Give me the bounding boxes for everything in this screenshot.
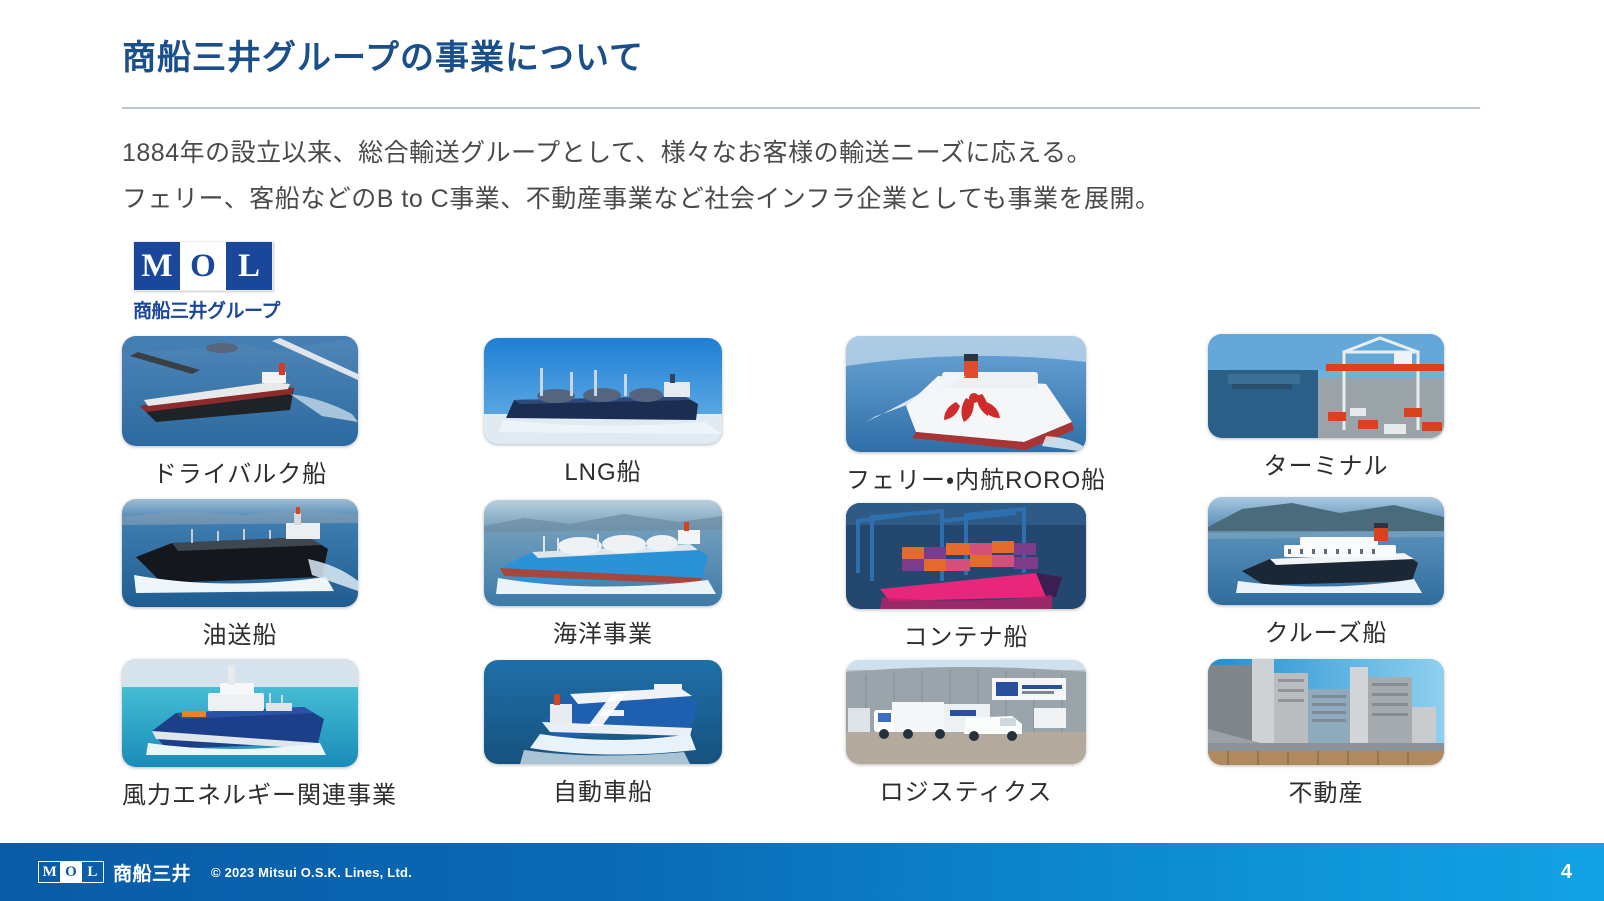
business-label: 油送船 bbox=[122, 615, 358, 650]
real-estate-buildings-photo bbox=[1208, 659, 1444, 765]
business-grid: ドライバルク船 bbox=[0, 0, 1604, 901]
ferry-roro-photo bbox=[846, 336, 1086, 452]
dry-bulk-carrier-photo bbox=[122, 336, 358, 446]
business-card[interactable]: ターミナル bbox=[1208, 334, 1444, 481]
business-label: 不動産 bbox=[1208, 773, 1444, 808]
container-terminal-photo bbox=[1208, 334, 1444, 438]
cruise-ship-photo bbox=[1208, 497, 1444, 605]
footer-brand-name: 商船三井 bbox=[113, 859, 191, 886]
footer-logo-letter-o: O bbox=[60, 862, 81, 882]
business-label: LNG船 bbox=[484, 452, 722, 487]
business-card[interactable]: コンテナ船 bbox=[846, 503, 1086, 652]
business-card[interactable]: 不動産 bbox=[1208, 659, 1444, 808]
business-card[interactable]: クルーズ船 bbox=[1208, 497, 1444, 648]
footer-logo-letter-l: L bbox=[82, 862, 103, 882]
business-label: ドライバルク船 bbox=[122, 454, 358, 489]
business-label: 風力エネルギー関連事業 bbox=[122, 775, 358, 810]
business-label: ターミナル bbox=[1208, 446, 1444, 481]
business-card[interactable]: ロジスティクス bbox=[846, 660, 1086, 807]
business-card[interactable]: LNG船 bbox=[484, 338, 722, 487]
slide-footer: M O L 商船三井 © 2023 Mitsui O.S.K. Lines, L… bbox=[0, 843, 1604, 901]
business-card[interactable]: ドライバルク船 bbox=[122, 336, 358, 489]
business-label: クルーズ船 bbox=[1208, 613, 1444, 648]
slide-canvas: 商船三井グループの事業について 1884年の設立以来、総合輸送グループとして、様… bbox=[0, 0, 1604, 901]
footer-mol-logo: M O L bbox=[38, 861, 104, 883]
footer-copyright: © 2023 Mitsui O.S.K. Lines, Ltd. bbox=[211, 865, 412, 880]
business-card[interactable]: 油送船 bbox=[122, 499, 358, 650]
business-card[interactable]: フェリー・内航RORO船 bbox=[846, 336, 1086, 495]
business-card[interactable]: 海洋事業 bbox=[484, 500, 722, 649]
business-label: コンテナ船 bbox=[846, 617, 1086, 652]
business-label: 海洋事業 bbox=[484, 614, 722, 649]
wind-energy-vessel-photo bbox=[122, 659, 358, 767]
business-label: ロジスティクス bbox=[846, 772, 1086, 807]
lng-carrier-photo bbox=[484, 338, 722, 444]
container-ship-photo bbox=[846, 503, 1086, 609]
business-label: フェリー・内航RORO船 bbox=[846, 460, 1086, 495]
business-card[interactable]: 風力エネルギー関連事業 bbox=[122, 659, 358, 810]
business-label: 自動車船 bbox=[484, 772, 722, 807]
logistics-trucks-photo bbox=[846, 660, 1086, 764]
car-carrier-photo bbox=[484, 660, 722, 764]
oil-tanker-photo bbox=[122, 499, 358, 607]
offshore-business-photo bbox=[484, 500, 722, 606]
business-card[interactable]: 自動車船 bbox=[484, 660, 722, 807]
page-number: 4 bbox=[1561, 861, 1572, 884]
footer-logo-letter-m: M bbox=[39, 862, 60, 882]
